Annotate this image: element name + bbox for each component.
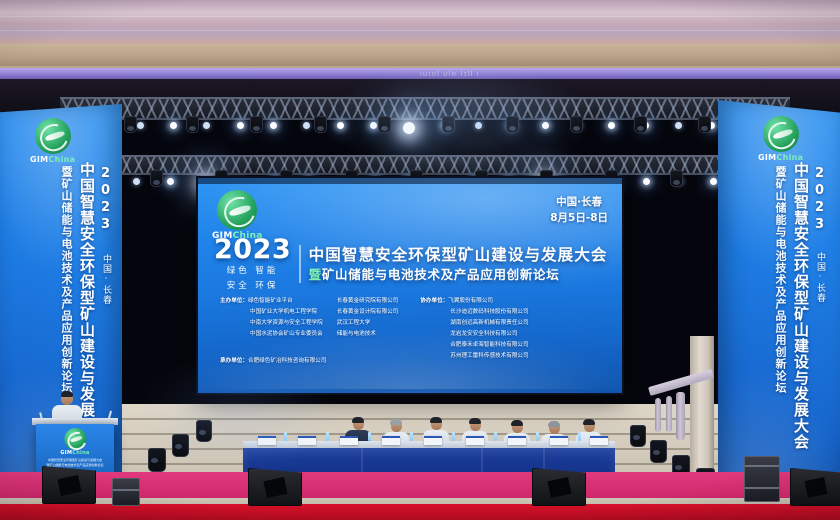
- screen-main-title: 中国智慧安全环保型矿山建设与发展大会: [309, 245, 608, 265]
- coorg-3: 龙岩龙安安全科技有限公司: [420, 329, 528, 340]
- floor-monitor-1: [42, 466, 96, 504]
- coorg-4: 合肥泰禾卓海智能科技有限公司: [420, 340, 528, 351]
- coorg-0: 飞翼股份有限公司: [448, 298, 493, 304]
- hall-ceiling: [0, 0, 840, 78]
- coorg-5: 苏州理工雷科传感技术有限公司: [420, 351, 528, 362]
- balustrade-baluster: [655, 398, 661, 432]
- speaker-head: [61, 392, 73, 405]
- banner-right-city: 中国·长春: [815, 252, 824, 303]
- title-divider: [299, 245, 301, 283]
- banner-left-subtitle: 暨矿山储能与电池技术及产品应用创新论坛: [61, 166, 72, 394]
- screen-organizers: 主办单位：绿色智能矿业平台 中国矿业大学机电工程学院 中南大学资源与安全工程学院…: [220, 296, 604, 361]
- stage-carpet-red: [0, 504, 840, 520]
- host-column-2: 长春黄金研究院有限公司 长春黄金设计院有限公司 武汉工程大学 储能与电池技术: [337, 296, 399, 361]
- screen-organizer-line: 承办单位：合肥绿色矿冶科技咨询有限公司: [220, 356, 326, 364]
- host-col1-0: 绿色智能矿业平台: [248, 298, 293, 304]
- road-case: [744, 456, 780, 502]
- panelist-head: [470, 419, 481, 431]
- organizer-label: 承办单位：: [220, 358, 248, 364]
- host-col1-1: 中国矿业大学机电工程学院: [250, 309, 317, 315]
- coorganizer-label: 协办单位：: [420, 298, 448, 304]
- coorg-1: 长沙迪迈数码科技股份有限公司: [420, 307, 528, 318]
- screen-slogan-1: 绿色 智能: [214, 265, 291, 278]
- screen-slogan-2: 安全 环保: [214, 280, 291, 293]
- floor-monitor-4: [790, 468, 840, 506]
- screen-year-block: 2023 绿色 智能 安全 环保: [214, 236, 291, 293]
- gim-logo-mark: [35, 118, 71, 154]
- panelist-head: [512, 421, 523, 433]
- stage-photograph: ו ןןגן שןח ןהוחו: [0, 0, 840, 520]
- screen-title-row: 2023 绿色 智能 安全 环保 中国智慧安全环保型矿山建设与发展大会 暨矿山储…: [214, 236, 608, 293]
- screen-city: 中国·长春: [550, 194, 608, 210]
- screen-titles: 中国智慧安全环保型矿山建设与发展大会 暨矿山储能与电池技术及产品应用创新论坛: [309, 245, 608, 284]
- banner-left-city: 中国·长春: [101, 254, 110, 305]
- screen-dates: 8月5日-8日: [550, 210, 608, 226]
- truss-upper: [60, 97, 790, 120]
- screen-sub-title-text: 矿山储能与电池技术及产品应用创新论坛: [322, 267, 560, 282]
- main-led-screen: GIMChina 中国·长春 8月5日-8日 2023 绿色 智能 安全 环保 …: [198, 178, 622, 393]
- coorg-2: 湖南创远高新机械有限责任公司: [420, 318, 528, 329]
- floor-monitor-2: [248, 468, 302, 506]
- host-col2-1: 长春黄金设计院有限公司: [337, 307, 399, 318]
- screen-year: 2023: [214, 236, 291, 263]
- host-col1-3: 中国水泥协会矿山专业委员会: [250, 331, 323, 337]
- host-label: 主办单位：: [220, 298, 248, 304]
- screen-sub-title: 暨矿山储能与电池技术及产品应用创新论坛: [309, 267, 608, 284]
- gim-logo-wordmark: GIMChina: [60, 451, 89, 456]
- screen-date-block: 中国·长春 8月5日-8日: [550, 194, 608, 227]
- banner-right-title: 中国智慧安全环保型矿山建设与发展大会: [793, 162, 808, 450]
- panelist-head: [353, 418, 364, 430]
- floor-monitor-3: [532, 468, 586, 506]
- road-case: [112, 478, 140, 506]
- host-column-1: 主办单位：绿色智能矿业平台 中国矿业大学机电工程学院 中南大学资源与安全工程学院…: [220, 296, 323, 361]
- panelist-head: [584, 420, 595, 432]
- podium-banner-line-1: 中国智慧安全环保型矿山建设与发展大会: [36, 458, 114, 463]
- panelist-head: [431, 418, 442, 430]
- ceiling-strip-text: ו ןןגן שןח ןהוחו: [420, 69, 620, 78]
- gim-logo-mark: [217, 190, 257, 230]
- screen-amp-char: 暨: [309, 267, 322, 282]
- host-col2-0: 长春黄金研究院有限公司: [337, 296, 399, 307]
- organizer-value: 合肥绿色矿冶科技咨询有限公司: [248, 358, 326, 364]
- gim-logo-wordmark: GIMChina: [758, 154, 803, 162]
- banner-right-subtitle: 暨矿山储能与电池技术及产品应用创新论坛: [775, 166, 786, 394]
- balustrade-post: [676, 392, 685, 440]
- truss-lower: [95, 155, 755, 175]
- banner-right-logo: GIMChina: [758, 116, 803, 164]
- gim-logo-mark: [64, 428, 86, 450]
- host-col2-3: 储能与电池技术: [337, 329, 399, 340]
- panelist-head: [549, 422, 560, 434]
- banner-right-year: 2023: [813, 166, 826, 234]
- banner-left-year: 2023: [99, 166, 112, 234]
- right-pillar: [690, 336, 714, 482]
- gim-logo-wordmark: GIMChina: [30, 156, 75, 164]
- lamp-row-upper: [70, 122, 782, 134]
- gim-logo-mark: [763, 116, 799, 152]
- panelist-head: [391, 420, 402, 432]
- host-col2-2: 武汉工程大学: [337, 318, 399, 329]
- coorganizer-column: 协办单位：飞翼股份有限公司 长沙迪迈数码科技股份有限公司 湖南创远高新机械有限责…: [420, 296, 528, 361]
- banner-left-logo: GIMChina: [30, 118, 75, 166]
- podium-logo: GIMChina: [60, 428, 89, 456]
- host-col1-2: 中南大学资源与安全工程学院: [250, 320, 323, 326]
- balustrade-baluster: [666, 396, 672, 432]
